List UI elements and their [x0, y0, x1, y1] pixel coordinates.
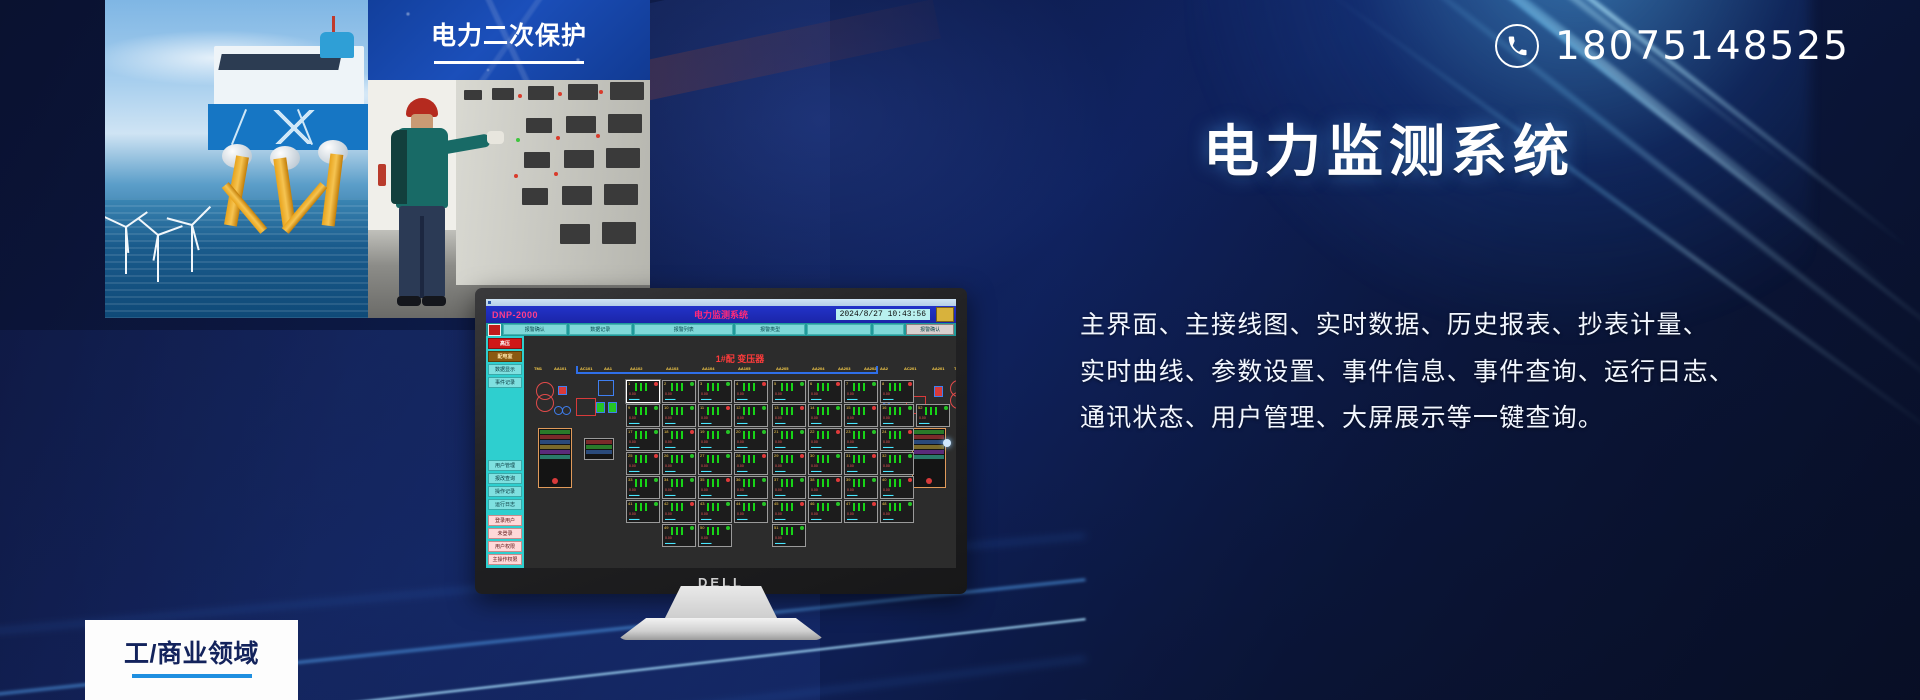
- feeder-index: 30: [810, 453, 814, 458]
- feeder-status-led: [654, 406, 658, 410]
- feeder-phase-bars: [889, 431, 903, 439]
- feeder-phase-bars: [853, 479, 867, 487]
- card-offshore-photo: [105, 0, 368, 318]
- feeder-phase-bars: [635, 383, 649, 391]
- feeder-index: 37: [774, 477, 778, 482]
- measurement-info-box[interactable]: [538, 428, 572, 488]
- feeder-phase-bars: [635, 407, 649, 415]
- feeder-status-led: [762, 478, 766, 482]
- scada-application[interactable]: DNP-2000 电力监测系统 2024/8/27 10:43:56 报警确认 …: [486, 299, 956, 568]
- cabinet-cell: [526, 118, 552, 133]
- feeder-status-led: [762, 406, 766, 410]
- toolbar-button[interactable]: 报警列表: [634, 324, 733, 335]
- feeder-value: 0.00: [811, 512, 818, 516]
- monitor-screen[interactable]: DNP-2000 电力监测系统 2024/8/27 10:43:56 报警确认 …: [486, 299, 956, 568]
- info-line: [540, 440, 570, 444]
- feeder-index: 49: [664, 525, 668, 530]
- scada-single-line-diagram[interactable]: 1#配 变压器: [524, 336, 956, 568]
- status-led: [516, 138, 520, 142]
- feeder-name: ▬▬▬: [775, 469, 786, 473]
- feeder-name: ▬▬▬: [811, 469, 822, 473]
- feeder-cell[interactable]: 240.00▬▬▬: [880, 428, 914, 451]
- card-label-underline: [434, 61, 584, 64]
- feeder-phase-bars: [671, 431, 685, 439]
- feeder-tag: AA102: [630, 366, 642, 371]
- feeder-index: 44: [736, 501, 740, 506]
- feeder-value: 0.00: [847, 464, 854, 468]
- sidebar-item-run-log[interactable]: 运行日志: [488, 499, 522, 510]
- cabinet-cell: [610, 82, 644, 100]
- feeder-status-led: [800, 526, 804, 530]
- feeder-cell[interactable]: 170.00▬▬▬: [626, 428, 660, 451]
- card-label-protection[interactable]: 电力二次保护: [368, 0, 650, 80]
- feeder-cell[interactable]: 30.00▬▬▬: [698, 380, 732, 403]
- feeder-name: ▬▬▬: [701, 493, 712, 497]
- description-line: 通讯状态、用户管理、大屏展示等一键查询。: [1080, 395, 1780, 442]
- feeder-name: ▬▬▬: [629, 445, 640, 449]
- bus-tag: AC101: [580, 366, 592, 371]
- feeder-status-led: [800, 382, 804, 386]
- feeder-phase-bars: [671, 479, 685, 487]
- cabinet-cell: [566, 116, 596, 133]
- feeder-cell[interactable]: 140.00▬▬▬: [808, 404, 842, 427]
- feeder-name: ▬▬▬: [811, 397, 822, 401]
- feeder-status-led: [908, 502, 912, 506]
- ct-symbol: [562, 406, 571, 415]
- feeder-status-led: [690, 478, 694, 482]
- sidebar-item-user-management[interactable]: 用户管理: [488, 460, 522, 471]
- feeder-index: 15: [846, 405, 850, 410]
- info-line: [540, 430, 570, 434]
- feeder-index: 22: [810, 429, 814, 434]
- feeder-name: ▬▬▬: [847, 493, 858, 497]
- transformer-symbol: [536, 394, 554, 412]
- breaker-symbol: [558, 386, 567, 395]
- feeder-cell[interactable]: 150.00▬▬▬: [844, 404, 878, 427]
- feeder-cell[interactable]: 250.00▬▬▬: [626, 452, 660, 475]
- feeder-index: 4: [736, 381, 738, 386]
- feeder-phase-bars: [853, 503, 867, 511]
- feeder-value: 0.00: [665, 416, 672, 420]
- transformer-symbol: [950, 392, 956, 409]
- feeder-cell[interactable]: 280.00▬▬▬: [734, 452, 768, 475]
- feeder-cell[interactable]: 330.00▬▬▬: [626, 476, 660, 499]
- feeder-status-led: [836, 502, 840, 506]
- feeder-cell[interactable]: 70.00▬▬▬: [844, 380, 878, 403]
- toolbar-button[interactable]: [807, 324, 871, 335]
- feeder-phase-bars: [635, 455, 649, 463]
- sidebar-item-main-operation-permission[interactable]: 主操作权限: [488, 554, 522, 565]
- status-led: [514, 174, 518, 178]
- measurement-info-box[interactable]: [584, 438, 614, 460]
- card-label-text: 工/商业领域: [124, 642, 259, 667]
- busbar-drop: [576, 366, 578, 374]
- feeder-phase-bars: [889, 383, 903, 391]
- sidebar-item-login-user[interactable]: 登录用户: [488, 515, 522, 526]
- feeder-index: 19: [700, 429, 704, 434]
- sidebar-item-data-display[interactable]: 数据显示: [488, 364, 522, 375]
- feeder-cell[interactable]: 20.00▬▬▬: [662, 380, 696, 403]
- feeder-cell[interactable]: 290.00▬▬▬: [772, 452, 806, 475]
- cabinet-cell: [606, 148, 640, 168]
- feeder-cell[interactable]: 300.00▬▬▬: [808, 452, 842, 475]
- page-title: 电力监测系统: [1203, 124, 1575, 180]
- isolator-symbol: [598, 380, 614, 396]
- feeder-index: 39: [846, 477, 850, 482]
- technician-jacket: [396, 128, 448, 208]
- cabinet-cell: [464, 90, 482, 100]
- feeder-cell[interactable]: 270.00▬▬▬: [698, 452, 732, 475]
- feeder-cell[interactable]: 210.00▬▬▬: [772, 428, 806, 451]
- sidebar-item-user-permission[interactable]: 用户权限: [488, 541, 522, 552]
- feeder-index: 35: [700, 477, 704, 482]
- platform-tank: [320, 32, 354, 58]
- status-led: [552, 478, 558, 484]
- feeder-tag: AA104: [702, 366, 714, 371]
- card-label-industrial[interactable]: 工/商业领域: [85, 620, 298, 700]
- status-led: [518, 94, 522, 98]
- feeder-name: ▬▬▬: [847, 469, 858, 473]
- feeder-phase-bars: [707, 407, 721, 415]
- cabinet-cell: [568, 84, 598, 100]
- feeder-cell[interactable]: 510.00▬▬▬: [772, 524, 806, 547]
- toolbar-button[interactable]: 报警类型: [735, 324, 805, 335]
- feeder-value: 0.00: [811, 488, 818, 492]
- card-switchgear: 电力二次保护: [368, 0, 650, 318]
- breaker-symbol: [934, 386, 943, 397]
- feeder-index: 36: [736, 477, 740, 482]
- sidebar-item-operation-record[interactable]: 操作记录: [488, 486, 522, 497]
- status-led: [558, 92, 562, 96]
- feeder-tag: AA205: [776, 366, 788, 371]
- feeder-status-led: [654, 478, 658, 482]
- feeder-index: 5: [774, 381, 776, 386]
- diagram-title: 1#配 变压器: [524, 352, 956, 365]
- feeder-name: ▬▬▬: [847, 517, 858, 521]
- feeder-name: ▬▬▬: [701, 445, 712, 449]
- feeder-value: 0.00: [701, 512, 708, 516]
- cabinet-cell: [608, 114, 642, 133]
- feeder-status-led: [872, 430, 876, 434]
- feeder-name: ▬▬▬: [811, 493, 822, 497]
- feeder-index: 13: [774, 405, 778, 410]
- feeder-index: 8: [882, 381, 884, 386]
- status-led: [596, 134, 600, 138]
- info-line: [914, 435, 944, 439]
- feeder-cell[interactable]: 460.00▬▬▬: [808, 500, 842, 523]
- cabinet-cell: [492, 88, 514, 100]
- contact-phone[interactable]: 18075148525: [1495, 24, 1850, 68]
- feeder-value: 0.00: [737, 440, 744, 444]
- info-line: [914, 430, 944, 434]
- feeder-value: 0.00: [847, 440, 854, 444]
- feeder-cell[interactable]: 160.00▬▬▬: [880, 404, 914, 427]
- scada-body: 高压 配电室 数据显示 事件记录 用户管理 报改查询 操作记录 运行日志 登录用…: [486, 336, 956, 568]
- feeder-status-led: [872, 478, 876, 482]
- monitor-bezel: DNP-2000 电力监测系统 2024/8/27 10:43:56 报警确认 …: [475, 288, 967, 594]
- feeder-name: ▬▬▬: [883, 493, 894, 497]
- info-line: [914, 440, 944, 444]
- feeder-name: ▬▬▬: [775, 445, 786, 449]
- feeder-value: 0.00: [665, 488, 672, 492]
- feeder-index: 27: [700, 453, 704, 458]
- feeder-phase-bars: [743, 479, 757, 487]
- feeder-index: 51: [774, 525, 778, 530]
- technician-figure: [384, 98, 458, 318]
- info-line: [586, 440, 612, 444]
- feeder-tag: AA202: [864, 366, 876, 371]
- truss-cross-brace: [264, 110, 324, 144]
- feeder-phase-bars: [707, 455, 721, 463]
- feeder-cell[interactable]: 380.00▬▬▬: [808, 476, 842, 499]
- feeder-value: 0.00: [775, 440, 782, 444]
- feeder-phase-bars: [853, 455, 867, 463]
- feeder-cell[interactable]: 450.00▬▬▬: [772, 500, 806, 523]
- feeder-phase-bars: [671, 527, 685, 535]
- feeder-value: 0.00: [775, 416, 782, 420]
- feeder-status-led: [762, 430, 766, 434]
- feeder-cell[interactable]: 500.00▬▬▬: [698, 524, 732, 547]
- cabinet-cell: [560, 224, 590, 244]
- scada-sidebar[interactable]: 高压 配电室 数据显示 事件记录 用户管理 报改查询 操作记录 运行日志 登录用…: [486, 336, 524, 568]
- feeder-cell[interactable]: 410.00▬▬▬: [626, 500, 660, 523]
- feeder-cell[interactable]: 310.00▬▬▬: [844, 452, 878, 475]
- feeder-status-led: [726, 430, 730, 434]
- info-line: [914, 450, 944, 454]
- feeder-value: 0.00: [701, 464, 708, 468]
- feeder-name: ▬▬▬: [665, 445, 676, 449]
- feeder-value: 0.00: [629, 512, 636, 516]
- feeder-cell[interactable]: 320.00▬▬▬: [880, 452, 914, 475]
- power-led: [943, 439, 951, 447]
- bus-tag: TM2: [954, 366, 956, 371]
- feeder-phase-bars: [817, 431, 831, 439]
- feature-description: 主界面、主接线图、实时数据、历史报表、抄表计量、 实时曲线、参数设置、事件信息、…: [1080, 302, 1780, 442]
- feeder-name: ▬▬▬: [775, 541, 786, 545]
- feeder-status-led: [872, 382, 876, 386]
- feeder-status-led: [654, 382, 658, 386]
- feeder-index: 16: [882, 405, 886, 410]
- feeder-index: 17: [628, 429, 632, 434]
- feeder-value: 0.00: [665, 392, 672, 396]
- sidebar-item-report-query[interactable]: 报改查询: [488, 473, 522, 484]
- sidebar-item-not-logged-in[interactable]: 未登录: [488, 528, 522, 539]
- feeder-name: ▬▬▬: [811, 517, 822, 521]
- feeder-cell[interactable]: 520.00▬▬▬: [916, 404, 950, 427]
- feeder-name: ▬▬▬: [629, 493, 640, 497]
- feeder-cell[interactable]: 260.00▬▬▬: [662, 452, 696, 475]
- cabinet-cell: [602, 222, 636, 244]
- bus-tag: AC201: [904, 366, 916, 371]
- sidebar-item-distribution-room[interactable]: 配电室: [488, 351, 522, 362]
- feeder-index: 26: [664, 453, 668, 458]
- feeder-status-led: [908, 382, 912, 386]
- feeder-name: ▬▬▬: [665, 517, 676, 521]
- measurement-info-box[interactable]: [912, 428, 946, 488]
- toolbar-button[interactable]: [873, 324, 905, 335]
- dell-monitor: DNP-2000 电力监测系统 2024/8/27 10:43:56 报警确认 …: [475, 288, 967, 594]
- status-led: [599, 90, 603, 94]
- feeder-name: ▬▬▬: [883, 421, 894, 425]
- feeder-cell[interactable]: 40.00▬▬▬: [734, 380, 768, 403]
- feeder-index: 29: [774, 453, 778, 458]
- feeder-cell[interactable]: 90.00▬▬▬: [626, 404, 660, 427]
- feeder-index: 6: [810, 381, 812, 386]
- feeder-name: ▬▬▬: [629, 469, 640, 473]
- feeder-status-led: [944, 406, 948, 410]
- feeder-tag: AA203: [838, 366, 850, 371]
- feeder-cell[interactable]: 350.00▬▬▬: [698, 476, 732, 499]
- feeder-status-led: [836, 406, 840, 410]
- feeder-cell[interactable]: 220.00▬▬▬: [808, 428, 842, 451]
- feeder-index: 14: [810, 405, 814, 410]
- feeder-value: 0.00: [701, 392, 708, 396]
- feeder-phase-bars: [889, 407, 903, 415]
- feeder-value: 0.00: [811, 392, 818, 396]
- sidebar-item-hv[interactable]: 高压: [488, 338, 522, 349]
- feeder-phase-bars: [743, 407, 757, 415]
- feeder-cell[interactable]: 200.00▬▬▬: [734, 428, 768, 451]
- feeder-value: 0.00: [883, 416, 890, 420]
- toolbar-button-confirm[interactable]: 报警确认: [906, 324, 954, 335]
- feeder-cell[interactable]: 490.00▬▬▬: [662, 524, 696, 547]
- feeder-name: ▬▬▬: [883, 397, 894, 401]
- feeder-value: 0.00: [665, 464, 672, 468]
- feeder-index: 21: [774, 429, 778, 434]
- feeder-status-led: [800, 502, 804, 506]
- feeder-cell[interactable]: 400.00▬▬▬: [880, 476, 914, 499]
- feeder-name: ▬▬▬: [847, 397, 858, 401]
- feeder-phase-bars: [817, 407, 831, 415]
- feeder-name: ▬▬▬: [737, 517, 748, 521]
- scada-toolbar[interactable]: 报警确认 数据记录 报警列表 报警类型 报警确认: [486, 323, 956, 336]
- feeder-phase-bars: [817, 503, 831, 511]
- feeder-cell[interactable]: 390.00▬▬▬: [844, 476, 878, 499]
- feeder-value: 0.00: [847, 488, 854, 492]
- feeder-phase-bars: [889, 455, 903, 463]
- feeder-value: 0.00: [629, 488, 636, 492]
- feeder-cell[interactable]: 60.00▬▬▬: [808, 380, 842, 403]
- feeder-phase-bars: [781, 479, 795, 487]
- feeder-name: ▬▬▬: [775, 493, 786, 497]
- feeder-index: 45: [774, 501, 778, 506]
- feeder-name: ▬▬▬: [775, 421, 786, 425]
- feeder-value: 0.00: [737, 488, 744, 492]
- feeder-value: 0.00: [811, 464, 818, 468]
- feeder-name: ▬▬▬: [811, 421, 822, 425]
- feeder-index: 18: [664, 429, 668, 434]
- feeder-cell[interactable]: 480.00▬▬▬: [880, 500, 914, 523]
- feeder-value: 0.00: [847, 416, 854, 420]
- feeder-value: 0.00: [775, 512, 782, 516]
- feeder-cell[interactable]: 430.00▬▬▬: [698, 500, 732, 523]
- feeder-status-led: [836, 454, 840, 458]
- feeder-value: 0.00: [883, 488, 890, 492]
- feeder-value: 0.00: [665, 512, 672, 516]
- feeder-value: 0.00: [775, 464, 782, 468]
- card-label-text: 电力二次保护: [431, 16, 587, 52]
- feeder-phase-bars: [743, 503, 757, 511]
- feeder-name: ▬▬▬: [701, 469, 712, 473]
- bus-tag: AA2: [880, 366, 888, 371]
- feeder-status-led: [762, 502, 766, 506]
- feeder-index: 42: [664, 501, 668, 506]
- delta-symbol: [576, 398, 596, 416]
- feeder-index: 31: [846, 453, 850, 458]
- feeder-cell[interactable]: 420.00▬▬▬: [662, 500, 696, 523]
- feeder-phase-bars: [889, 479, 903, 487]
- feeder-value: 0.00: [737, 464, 744, 468]
- info-line: [914, 455, 944, 459]
- feeder-cell[interactable]: 360.00▬▬▬: [734, 476, 768, 499]
- info-line: [540, 445, 570, 449]
- feeder-value: 0.00: [883, 392, 890, 396]
- window-icon: [488, 301, 491, 304]
- feeder-cell[interactable]: 130.00▬▬▬: [772, 404, 806, 427]
- switchgear-cabinet-bank: [456, 80, 650, 285]
- feeder-index: 34: [664, 477, 668, 482]
- feeder-name: ▬▬▬: [629, 421, 640, 425]
- feeder-phase-bars: [635, 431, 649, 439]
- feeder-cell[interactable]: 10.00▬▬▬: [626, 380, 660, 403]
- feeder-value: 0.00: [919, 416, 926, 420]
- cabinet-cell: [604, 184, 638, 205]
- feeder-status-led: [726, 382, 730, 386]
- cabinet-cell: [562, 186, 592, 205]
- info-line: [914, 445, 944, 449]
- technician-glove: [487, 131, 504, 144]
- feeder-name: ▬▬▬: [737, 445, 748, 449]
- feeder-index: 50: [700, 525, 704, 530]
- feeder-cell[interactable]: 100.00▬▬▬: [662, 404, 696, 427]
- sidebar-item-event-log[interactable]: 事件记录: [488, 377, 522, 388]
- feeder-cell[interactable]: 470.00▬▬▬: [844, 500, 878, 523]
- bus-tag: AA101: [554, 366, 566, 371]
- feeder-phase-bars: [781, 455, 795, 463]
- feeder-tag: AA103: [666, 366, 678, 371]
- alarm-indicator-button[interactable]: [488, 324, 501, 336]
- feeder-cell[interactable]: 120.00▬▬▬: [734, 404, 768, 427]
- feeder-cell[interactable]: 230.00▬▬▬: [844, 428, 878, 451]
- feeder-phase-bars: [925, 407, 939, 415]
- busbar: [576, 372, 876, 374]
- feeder-cell[interactable]: 340.00▬▬▬: [662, 476, 696, 499]
- feeder-cell[interactable]: 80.00▬▬▬: [880, 380, 914, 403]
- status-led: [554, 172, 558, 176]
- feeder-value: 0.00: [847, 392, 854, 396]
- feeder-phase-bars: [635, 503, 649, 511]
- feeder-phase-bars: [889, 503, 903, 511]
- feeder-cell[interactable]: 110.00▬▬▬: [698, 404, 732, 427]
- feeder-index: 2: [664, 381, 666, 386]
- feeder-cell[interactable]: 440.00▬▬▬: [734, 500, 768, 523]
- feeder-cell[interactable]: 50.00▬▬▬: [772, 380, 806, 403]
- feeder-name: ▬▬▬: [629, 397, 640, 401]
- feeder-name: ▬▬▬: [883, 517, 894, 521]
- feeder-cell[interactable]: 180.00▬▬▬: [662, 428, 696, 451]
- toolbar-button[interactable]: 报警确认: [503, 324, 567, 335]
- feeder-cell[interactable]: 190.00▬▬▬: [698, 428, 732, 451]
- feeder-index: 28: [736, 453, 740, 458]
- sidebar-spacer: [488, 390, 522, 458]
- feeder-index: 32: [882, 453, 886, 458]
- feeder-value: 0.00: [665, 440, 672, 444]
- toolbar-button[interactable]: 数据记录: [569, 324, 633, 335]
- feeder-phase-bars: [671, 407, 685, 415]
- offshore-platform: [200, 28, 368, 213]
- feeder-cell[interactable]: 370.00▬▬▬: [772, 476, 806, 499]
- technician-shoe: [397, 296, 421, 306]
